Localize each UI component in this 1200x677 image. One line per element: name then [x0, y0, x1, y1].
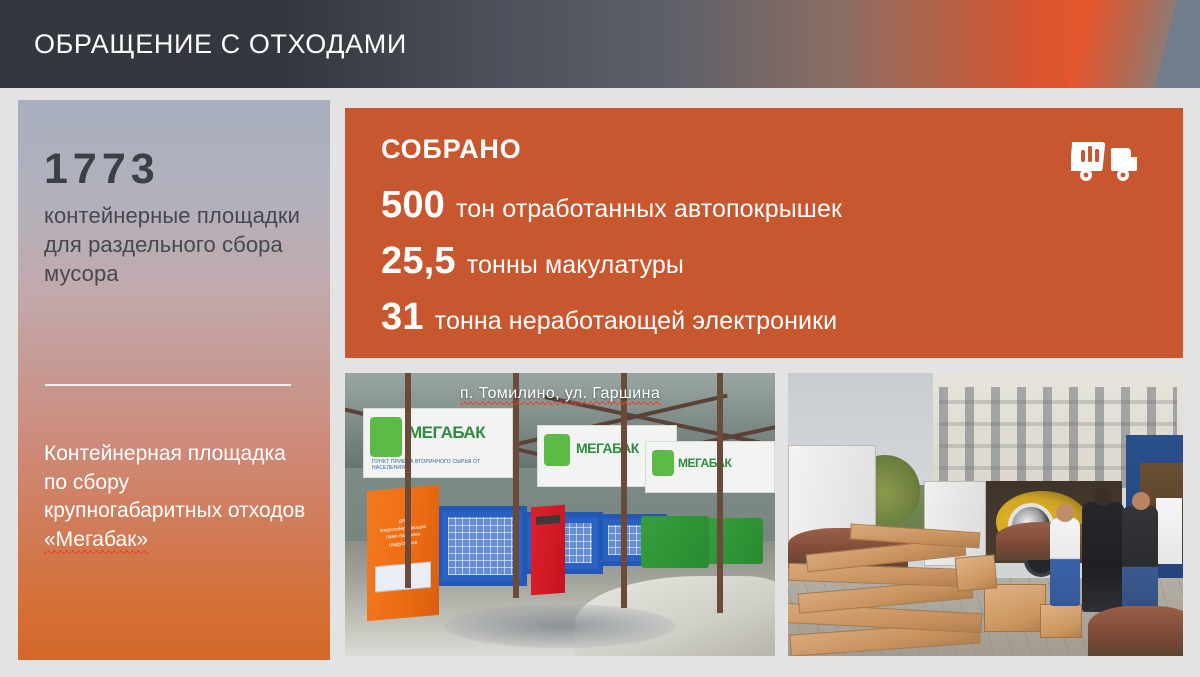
megabak-banner-text: МЕГАБАК [678, 456, 731, 470]
stats-list: 500 тон отработанных автопокрышек 25,5 т… [381, 184, 1141, 352]
cardboard-box [984, 584, 1046, 632]
garbage-truck-icon [1071, 136, 1147, 182]
person-head [1056, 504, 1074, 522]
page-title: ОБРАЩЕНИЕ С ОТХОДАМИ [34, 0, 407, 88]
canopy-post [405, 373, 411, 588]
stat-row: 31 тонна неработающей электроники [381, 296, 1141, 352]
megabak-banner-subtext: ПУНКТ ПРИЕМА ВТОРИЧНОГО СЫРЬЯ ОТ НАСЕЛЕН… [372, 459, 512, 471]
stat-number: 500 [381, 184, 445, 227]
volunteer-person [1082, 502, 1124, 612]
red-battery-bin [531, 505, 565, 595]
photo1-caption-text: п. Томилино, ул. Гаршина [460, 385, 660, 405]
stat-label: тон отработанных автопокрышек [456, 195, 842, 224]
megabak-banner: МЕГАБАК [645, 441, 775, 493]
stat-row: 500 тон отработанных автопокрышек [381, 184, 1141, 240]
cardboard-box [1040, 604, 1082, 638]
stats-panel-title: СОБРАНО [381, 134, 521, 165]
green-dumpster [641, 516, 709, 568]
stat-row: 25,5 тонны макулатуры [381, 240, 1141, 296]
megabak-name: «Мегабак» [44, 528, 148, 554]
sidebar-card: 1773 контейнерные площадки для раздельно… [18, 100, 330, 660]
stat-label: тонна неработающей электроники [435, 307, 838, 336]
megabak-banner: МЕГАБАК ПУНКТ ПРИЕМА ВТОРИЧНОГО СЫРЬЯ ОТ… [363, 408, 513, 478]
container-count-label: контейнерные площадки для раздельного сб… [44, 201, 306, 288]
recycling-station-photo: МЕГАБАК ПУНКТ ПРИЕМА ВТОРИЧНОГО СЫРЬЯ ОТ… [345, 373, 775, 656]
stat-label: тонны макулатуры [467, 251, 684, 280]
stat-number: 31 [381, 296, 424, 339]
orange-lamp-bin: для энергосберегающих ламп батареек град… [367, 485, 439, 621]
sidebar-divider [45, 384, 291, 386]
cardboard-box [955, 554, 998, 591]
photo2-shrub [1088, 606, 1183, 656]
slide-header: ОБРАЩЕНИЕ С ОТХОДАМИ [0, 0, 1200, 88]
truck-worker [1156, 498, 1182, 564]
volunteer-person [1050, 518, 1080, 606]
collected-stats-panel: СОБРАНО 500 тон отработанных автопокрыше… [345, 108, 1183, 358]
canopy-post [717, 373, 723, 613]
cardboard-collection-photo [788, 373, 1183, 656]
person-head [1094, 488, 1112, 506]
canopy-post [513, 373, 519, 598]
megabak-description-text: Контейнерная площадка по сбору крупногаб… [44, 442, 305, 522]
canopy-post [621, 373, 627, 608]
photo1-caption: п. Томилино, ул. Гаршина [345, 385, 775, 403]
volunteer-person [1122, 506, 1158, 610]
person-head [1132, 492, 1150, 510]
green-dumpster [701, 518, 763, 564]
megabak-description: Контейнерная площадка по сбору крупногаб… [44, 440, 312, 554]
megabak-banner-text: МЕГАБАК [408, 423, 485, 443]
sidebar-content: 1773 контейнерные площадки для раздельно… [18, 100, 330, 660]
container-count-number: 1773 [44, 148, 306, 191]
photo1-puddle [445, 604, 675, 648]
megabak-banner-text: МЕГАБАК [576, 440, 639, 456]
stat-number: 25,5 [381, 240, 456, 283]
